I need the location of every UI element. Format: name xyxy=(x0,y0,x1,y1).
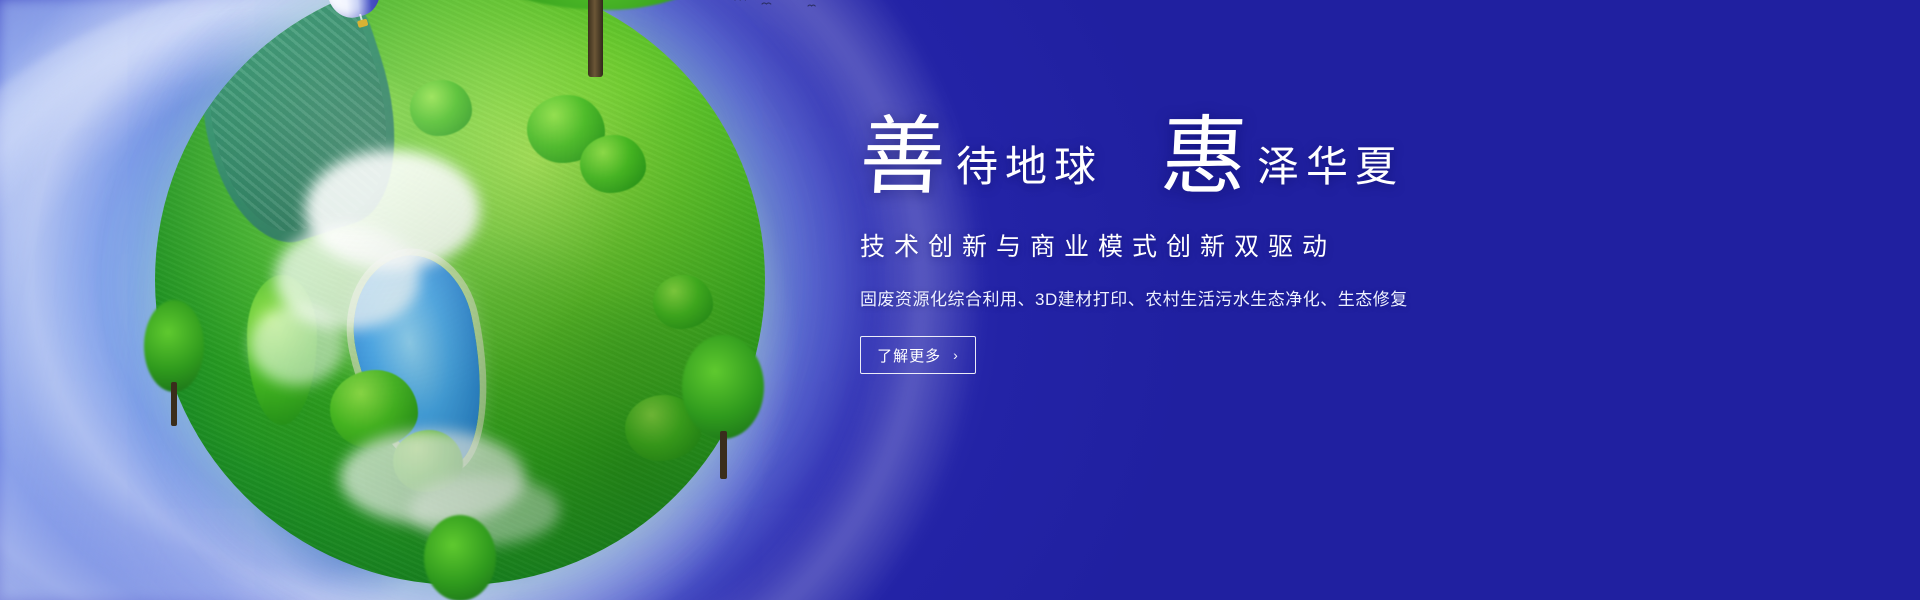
tree-canopy xyxy=(682,335,764,439)
small-tree-icon xyxy=(420,515,500,600)
chevron-right-icon: › xyxy=(953,347,959,363)
subtitle: 技术创新与商业模式创新双驱动 xyxy=(860,227,1560,263)
shrub-icon xyxy=(247,275,317,425)
tree-trunk xyxy=(588,0,603,77)
headline-big-char-2: 惠 xyxy=(1159,118,1249,197)
headline-group-1: 善 待地球 xyxy=(860,118,1103,197)
shrub-icon xyxy=(330,370,418,448)
flying-birds-flock-icon xyxy=(705,0,835,20)
shrub-icon xyxy=(653,275,713,329)
lake-icon xyxy=(339,245,501,480)
shrub-icon xyxy=(580,135,646,193)
mountain-texture xyxy=(179,0,417,246)
grass-texture xyxy=(155,0,765,585)
hero-banner: 善 待地球 惠 泽华夏 技术创新与商业模式创新双驱动 固废资源化综合利用、3D建… xyxy=(0,0,1920,600)
headline-small-chars-2: 泽华夏 xyxy=(1257,146,1404,188)
balloon-basket xyxy=(357,19,369,28)
shrub-icon xyxy=(410,80,472,136)
learn-more-label: 了解更多 xyxy=(877,345,941,366)
green-tiny-planet-icon xyxy=(155,0,765,585)
page-title: 善 待地球 惠 泽华夏 xyxy=(860,118,1560,197)
hero-content: 善 待地球 惠 泽华夏 技术创新与商业模式创新双驱动 固废资源化综合利用、3D建… xyxy=(860,118,1560,374)
globe-illustration xyxy=(120,0,800,600)
tree-trunk xyxy=(720,431,727,479)
cloud-icon xyxy=(275,225,420,330)
tree-canopy xyxy=(424,515,496,600)
headline-small-chars-1: 待地球 xyxy=(956,146,1103,188)
headline-group-2: 惠 泽华夏 xyxy=(1161,118,1404,197)
learn-more-button[interactable]: 了解更多 › xyxy=(860,336,976,374)
cloud-icon xyxy=(305,150,480,270)
shrub-icon xyxy=(393,430,463,492)
large-tree-icon xyxy=(472,0,722,60)
grass-texture xyxy=(155,0,765,585)
shrub-icon xyxy=(527,95,605,163)
mountain-ridge xyxy=(169,0,427,258)
headline-big-char-1: 善 xyxy=(858,118,948,197)
cloud-icon xyxy=(340,430,525,525)
small-tree-icon xyxy=(138,300,208,430)
tree-canopy xyxy=(144,300,204,392)
tree-trunk xyxy=(171,382,177,426)
cloud-icon xyxy=(250,305,345,385)
description: 固废资源化综合利用、3D建材打印、农村生活污水生态净化、生态修复 xyxy=(860,285,1560,310)
small-tree-icon xyxy=(676,335,768,485)
